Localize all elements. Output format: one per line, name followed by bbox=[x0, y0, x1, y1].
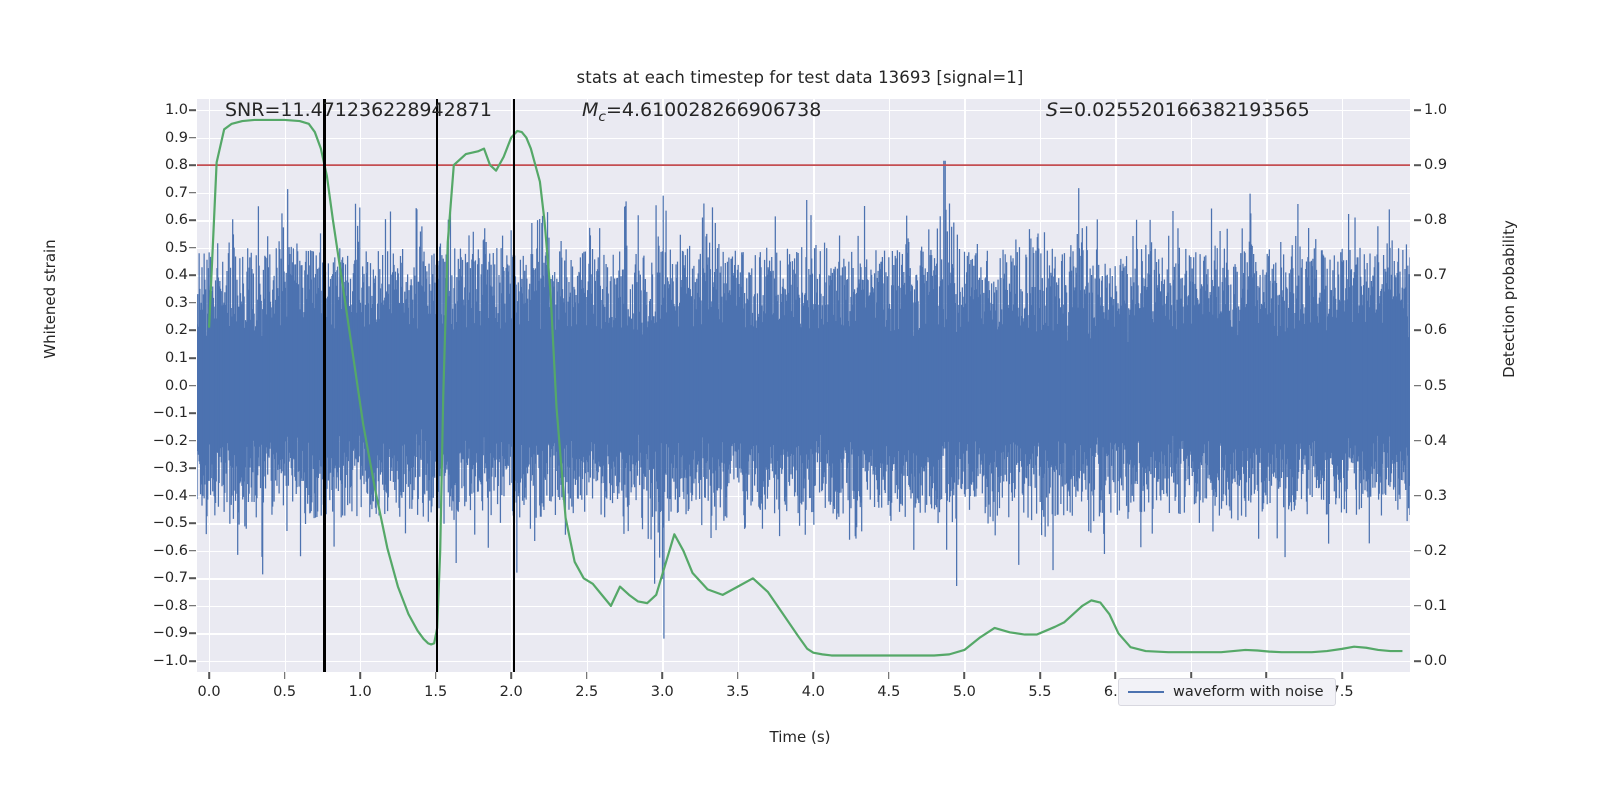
y-left-tick-mark-6 bbox=[189, 275, 196, 277]
y-axis-left-label: Whitened strain bbox=[41, 99, 59, 499]
x-tick-mark-3 bbox=[435, 672, 437, 679]
x-tick-mark-15 bbox=[1341, 672, 1343, 679]
y-left-tick-mark-5 bbox=[189, 247, 196, 249]
y-right-tick-mark-7 bbox=[1414, 495, 1421, 497]
x-tick-mark-2 bbox=[359, 672, 361, 679]
s-statistic-annotation: S=0.025520166382193565 bbox=[1046, 99, 1310, 121]
y-left-tick-label-10: 0.0 bbox=[68, 378, 188, 394]
x-tick-label-3: 1.5 bbox=[424, 684, 447, 700]
y-left-tick-label-19: −0.9 bbox=[68, 625, 188, 641]
x-tick-mark-11 bbox=[1039, 672, 1041, 679]
y-left-tick-mark-16 bbox=[189, 550, 196, 552]
x-tick-mark-9 bbox=[888, 672, 890, 679]
y-left-tick-label-0: 1.0 bbox=[68, 102, 188, 118]
y-left-tick-label-11: −0.1 bbox=[68, 405, 188, 421]
y-left-tick-mark-3 bbox=[189, 192, 196, 194]
x-tick-mark-12 bbox=[1115, 672, 1117, 679]
x-tick-label-2: 1.0 bbox=[349, 684, 372, 700]
x-tick-mark-6 bbox=[661, 672, 663, 679]
y-right-tick-mark-10 bbox=[1414, 660, 1421, 662]
x-tick-mark-0 bbox=[208, 672, 210, 679]
x-tick-label-7: 3.5 bbox=[726, 684, 749, 700]
y-left-tick-mark-1 bbox=[189, 137, 196, 139]
y-right-tick-mark-8 bbox=[1414, 550, 1421, 552]
y-right-tick-mark-1 bbox=[1414, 164, 1421, 166]
legend[interactable]: waveform with noise bbox=[1118, 678, 1336, 706]
x-tick-label-6: 3.0 bbox=[651, 684, 674, 700]
x-axis-label: Time (s) bbox=[0, 728, 1600, 746]
y-right-tick-mark-3 bbox=[1414, 275, 1421, 277]
x-tick-label-9: 4.5 bbox=[877, 684, 900, 700]
x-tick-label-8: 4.0 bbox=[802, 684, 825, 700]
y-axis-right-label: Detection probability bbox=[1500, 99, 1518, 499]
y-left-tick-label-3: 0.7 bbox=[68, 185, 188, 201]
x-tick-mark-5 bbox=[586, 672, 588, 679]
x-tick-mark-10 bbox=[964, 672, 966, 679]
y-left-tick-mark-13 bbox=[189, 467, 196, 469]
y-right-tick-label-10: 0.0 bbox=[1424, 653, 1514, 669]
y-left-tick-label-2: 0.8 bbox=[68, 157, 188, 173]
y-left-tick-label-5: 0.5 bbox=[68, 240, 188, 256]
stat-annotations: SNR=11.471236228942871 Mc=4.610028266906… bbox=[197, 99, 1410, 133]
y-right-tick-label-9: 0.1 bbox=[1424, 598, 1514, 614]
y-left-tick-label-18: −0.8 bbox=[68, 598, 188, 614]
y-left-tick-mark-7 bbox=[189, 302, 196, 304]
y-left-tick-mark-15 bbox=[189, 522, 196, 524]
y-left-tick-mark-4 bbox=[189, 219, 196, 221]
y-left-tick-mark-0 bbox=[189, 109, 196, 111]
y-right-tick-mark-2 bbox=[1414, 219, 1421, 221]
y-left-tick-label-17: −0.7 bbox=[68, 570, 188, 586]
y-left-tick-label-1: 0.9 bbox=[68, 130, 188, 146]
y-left-tick-mark-9 bbox=[189, 357, 196, 359]
y-left-tick-label-15: −0.5 bbox=[68, 515, 188, 531]
waveform-with-noise-series bbox=[197, 161, 1410, 639]
figure-canvas: stats at each timestep for test data 136… bbox=[0, 0, 1600, 800]
page-title: stats at each timestep for test data 136… bbox=[0, 68, 1600, 87]
event-marker-1 bbox=[436, 99, 438, 672]
y-left-tick-label-4: 0.6 bbox=[68, 212, 188, 228]
y-left-tick-label-20: −1.0 bbox=[68, 653, 188, 669]
y-right-tick-mark-5 bbox=[1414, 385, 1421, 387]
event-marker-2 bbox=[513, 99, 515, 672]
y-left-tick-mark-19 bbox=[189, 633, 196, 635]
x-tick-label-10: 5.0 bbox=[953, 684, 976, 700]
x-tick-label-5: 2.5 bbox=[575, 684, 598, 700]
y-right-tick-label-8: 0.2 bbox=[1424, 543, 1514, 559]
y-left-tick-mark-11 bbox=[189, 412, 196, 414]
series-svg bbox=[197, 99, 1410, 672]
legend-swatch-waveform bbox=[1128, 691, 1164, 693]
y-right-tick-mark-9 bbox=[1414, 605, 1421, 607]
x-tick-mark-8 bbox=[813, 672, 815, 679]
y-left-tick-label-16: −0.6 bbox=[68, 543, 188, 559]
y-left-tick-label-14: −0.4 bbox=[68, 488, 188, 504]
y-left-tick-label-6: 0.4 bbox=[68, 267, 188, 283]
y-left-tick-mark-8 bbox=[189, 330, 196, 332]
x-tick-label-1: 0.5 bbox=[273, 684, 296, 700]
y-left-tick-mark-14 bbox=[189, 495, 196, 497]
y-left-tick-mark-20 bbox=[189, 660, 196, 662]
chirp-mass-annotation: Mc=4.610028266906738 bbox=[582, 99, 821, 125]
y-left-tick-mark-10 bbox=[189, 385, 196, 387]
y-right-tick-mark-6 bbox=[1414, 440, 1421, 442]
y-left-tick-label-13: −0.3 bbox=[68, 460, 188, 476]
y-right-tick-mark-4 bbox=[1414, 330, 1421, 332]
y-right-tick-mark-0 bbox=[1414, 109, 1421, 111]
x-tick-mark-7 bbox=[737, 672, 739, 679]
y-left-tick-label-8: 0.2 bbox=[68, 322, 188, 338]
event-marker-0 bbox=[323, 99, 325, 672]
x-tick-mark-1 bbox=[284, 672, 286, 679]
y-left-tick-mark-17 bbox=[189, 578, 196, 580]
y-left-tick-mark-2 bbox=[189, 164, 196, 166]
y-left-tick-label-12: −0.2 bbox=[68, 433, 188, 449]
x-tick-label-0: 0.0 bbox=[198, 684, 221, 700]
y-left-tick-label-9: 0.1 bbox=[68, 350, 188, 366]
x-tick-label-4: 2.0 bbox=[500, 684, 523, 700]
y-left-tick-mark-12 bbox=[189, 440, 196, 442]
snr-annotation: SNR=11.471236228942871 bbox=[225, 99, 492, 121]
legend-label-waveform: waveform with noise bbox=[1173, 684, 1324, 700]
x-tick-label-11: 5.5 bbox=[1028, 684, 1051, 700]
plot-area bbox=[197, 99, 1410, 672]
y-left-tick-label-7: 0.3 bbox=[68, 295, 188, 311]
y-left-tick-mark-18 bbox=[189, 605, 196, 607]
x-tick-mark-4 bbox=[510, 672, 512, 679]
